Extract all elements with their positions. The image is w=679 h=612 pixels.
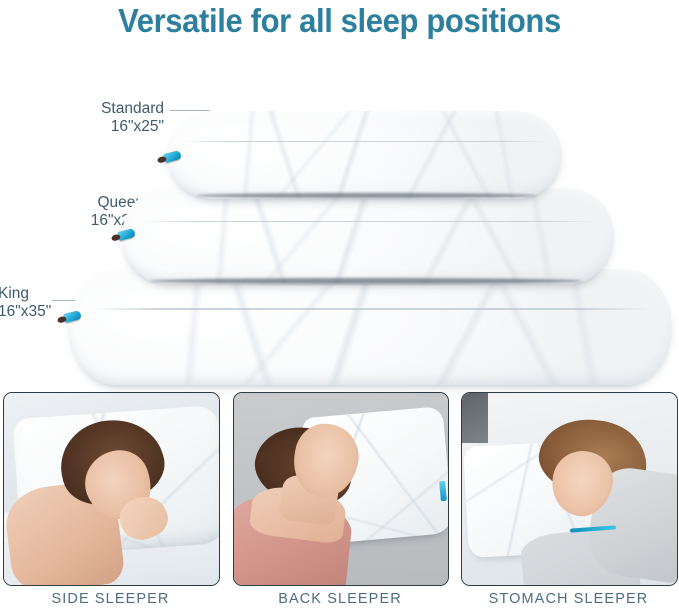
panel-back-sleeper: [233, 392, 449, 586]
sleep-position-panels: SIDE SLEEPER BACK SLEEPER STOMACH SLEEPE…: [0, 392, 679, 612]
caption-stomach-sleeper: STOMACH SLEEPER: [461, 588, 676, 610]
page-title: Versatile for all sleep positions: [20, 2, 658, 40]
photo-back-sleeper: [234, 393, 448, 585]
pillow-size-comparison: Standard 16"x25" Queen 16"x29" King 16"x…: [0, 50, 679, 380]
size-label-king-name: King: [0, 285, 29, 302]
photo-corner-shadow: [462, 393, 488, 443]
leader-line-standard: [170, 110, 210, 111]
pillow-king: [70, 269, 672, 385]
photo-stomach-sleeper: [462, 393, 677, 585]
size-label-standard-name: Standard: [101, 100, 164, 117]
pillow-shadow-queen: [150, 278, 582, 284]
panel-side-sleeper: [3, 392, 220, 586]
caption-back-sleeper: BACK SLEEPER: [233, 588, 447, 610]
caption-side-sleeper: SIDE SLEEPER: [3, 588, 218, 610]
size-label-standard-dimensions: 16"x25": [78, 118, 164, 136]
panel-stomach-sleeper: [461, 392, 678, 586]
pillow-standard: [168, 111, 562, 199]
size-label-standard: Standard 16"x25": [78, 100, 164, 135]
pillow-queen: [122, 188, 614, 284]
pillow-shadow-standard: [196, 193, 536, 198]
photo-side-sleeper: [4, 393, 219, 585]
